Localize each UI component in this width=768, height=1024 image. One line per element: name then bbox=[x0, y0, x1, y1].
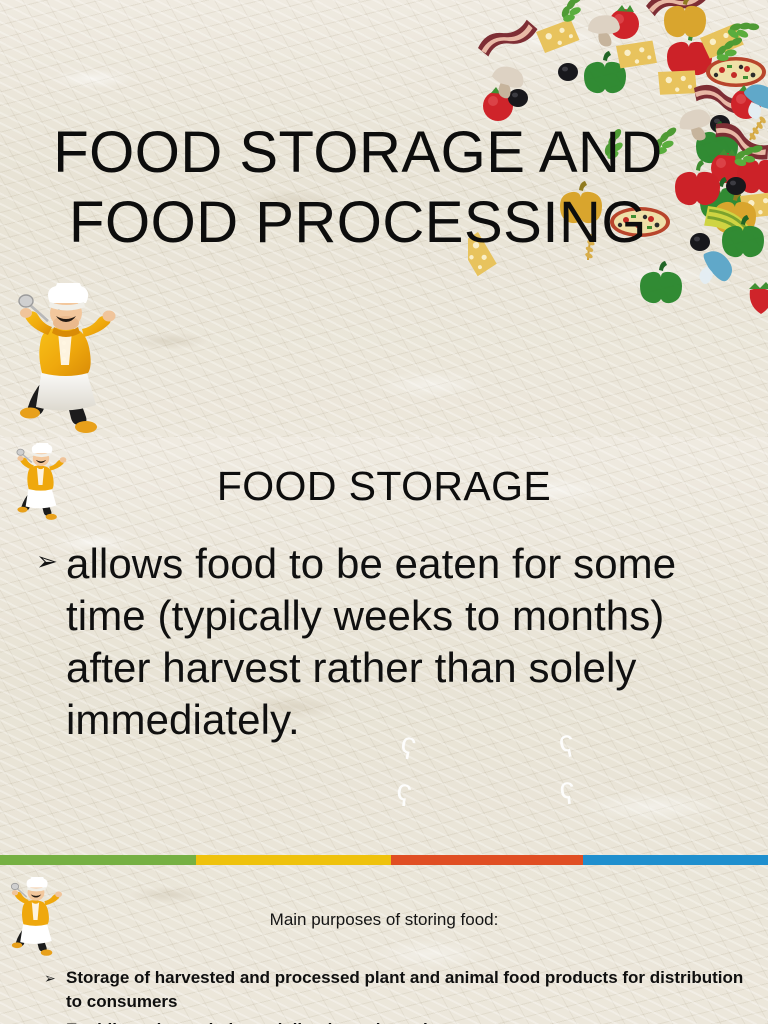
divider-segment-green bbox=[0, 855, 196, 865]
list-item: ➢ Enabling a better balanced diet throug… bbox=[44, 1018, 750, 1024]
divider-segment-blue bbox=[583, 855, 768, 865]
arrow-bullet-icon: ➢ bbox=[44, 966, 66, 990]
slide-3-lead-text: Main purposes of storing food: bbox=[0, 908, 768, 932]
list-item-text: Enabling a better balanced diet througho… bbox=[66, 1018, 750, 1024]
slide-1: FOOD STORAGE AND FOOD PROCESSING bbox=[0, 0, 768, 437]
slide-2-heading: FOOD STORAGE bbox=[0, 460, 768, 512]
arrow-bullet-icon: ➢ bbox=[36, 548, 66, 574]
bullet-text: allows food to be eaten for some time (t… bbox=[66, 538, 736, 746]
slide-deck: FOOD STORAGE AND FOOD PROCESSING bbox=[0, 0, 768, 1024]
slide-2-body: ➢ allows food to be eaten for some time … bbox=[36, 538, 736, 746]
divider-segment-orange bbox=[391, 855, 583, 865]
arrow-bullet-icon: ➢ bbox=[44, 1018, 66, 1024]
title-line-2: FOOD PROCESSING bbox=[0, 188, 716, 258]
list-item-text: Storage of harvested and processed plant… bbox=[66, 966, 750, 1014]
slide-3-bullet-list: ➢ Storage of harvested and processed pla… bbox=[44, 966, 750, 1024]
color-divider-bar bbox=[0, 855, 768, 865]
slide-title: FOOD STORAGE AND FOOD PROCESSING bbox=[0, 118, 716, 258]
list-item: ➢ Storage of harvested and processed pla… bbox=[44, 966, 750, 1014]
title-line-1: FOOD STORAGE AND bbox=[0, 118, 716, 188]
bullet-item: ➢ allows food to be eaten for some time … bbox=[36, 538, 736, 746]
divider-segment-yellow bbox=[196, 855, 391, 865]
chef-cartoon-icon bbox=[8, 283, 124, 443]
